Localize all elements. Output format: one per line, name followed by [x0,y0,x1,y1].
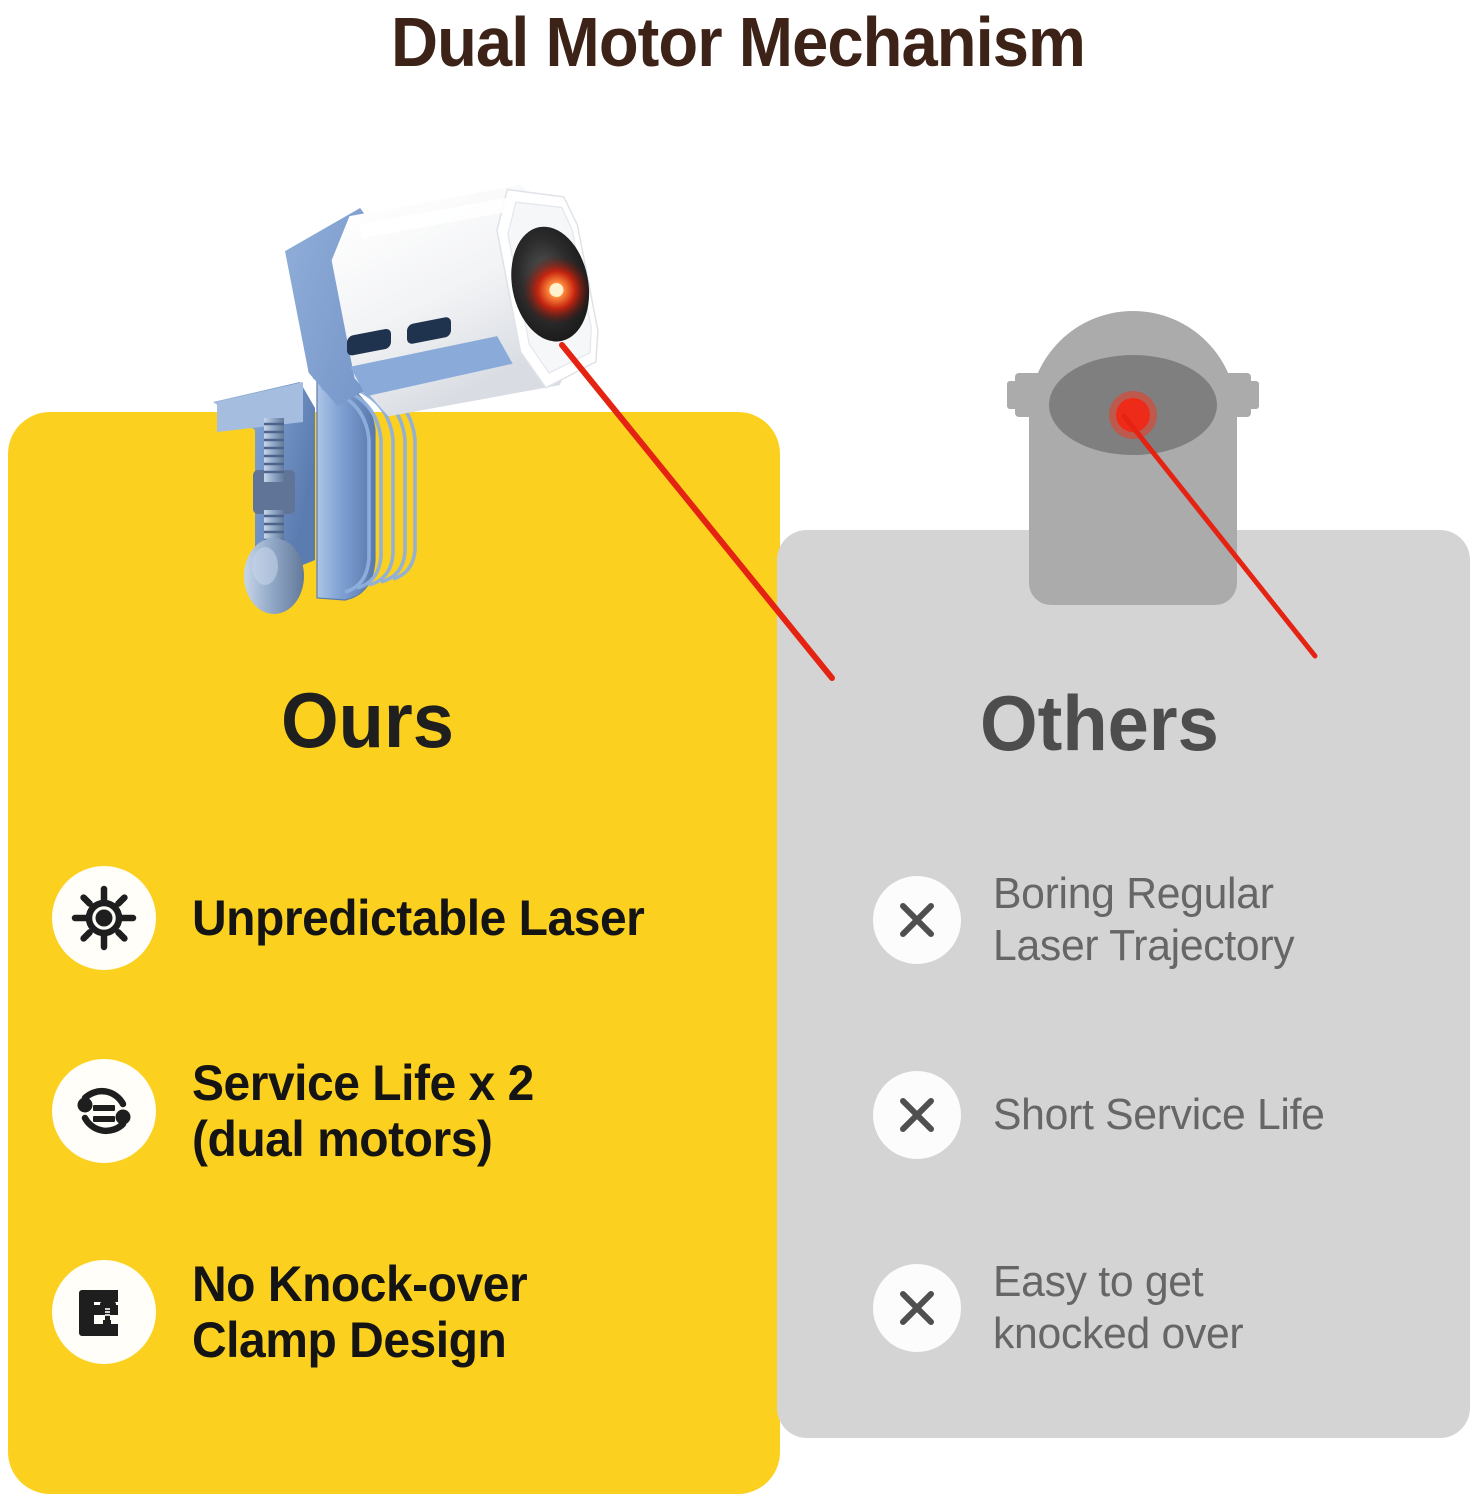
others-feature-row-3: Easy to get knocked over [873,1264,1433,1352]
x-mark-icon [873,1264,961,1352]
ours-feature-label-1: Unpredictable Laser [192,890,644,946]
others-feature-row-2: Short Service Life [873,1071,1433,1159]
x-mark-icon [873,1071,961,1159]
ours-feature-row-1: Unpredictable Laser [52,866,752,970]
ours-heading: Ours [281,675,454,766]
others-feature-row-1: Boring Regular Laser Trajectory [873,876,1433,964]
ours-feature-label-3: No Knock-over Clamp Design [192,1256,527,1368]
service-life-cycle-icon [52,1059,156,1163]
others-feature-label-3: Easy to get knocked over [993,1256,1243,1360]
ours-feature-label-2: Service Life x 2 (dual motors) [192,1055,534,1167]
others-feature-label-2: Short Service Life [993,1089,1325,1141]
clamp-icon [52,1260,156,1364]
infographic-canvas: Dual Motor Mechanism [0,0,1476,1500]
sun-brightness-icon [52,866,156,970]
others-heading: Others [980,678,1219,769]
page-title: Dual Motor Mechanism [52,2,1425,82]
x-mark-icon [873,876,961,964]
ours-feature-row-2: Service Life x 2 (dual motors) [52,1059,752,1163]
others-feature-label-1: Boring Regular Laser Trajectory [993,868,1294,972]
ours-feature-row-3: No Knock-over Clamp Design [52,1260,752,1364]
